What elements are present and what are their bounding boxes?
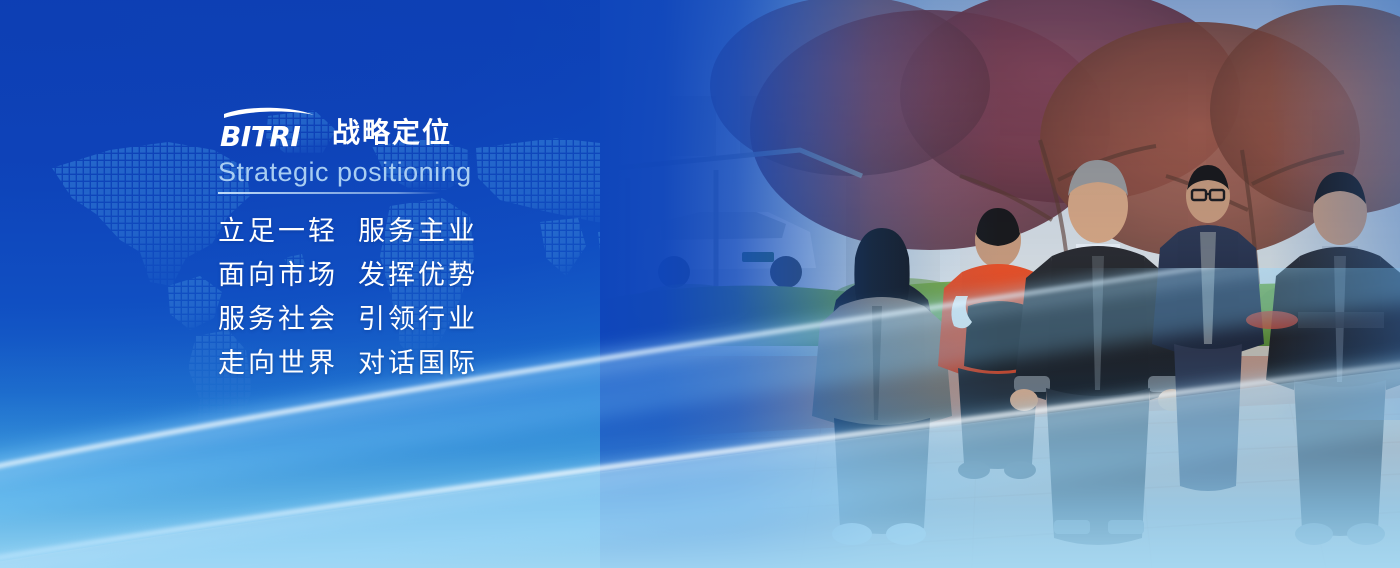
bitri-logo-icon: BITRI (218, 106, 320, 150)
slogan-left: 立足一轻 (218, 210, 358, 254)
slogan-line: 立足一轻 服务主业 (218, 210, 648, 254)
subtitle-underline (218, 192, 440, 194)
heading-chinese: 战略定位 (332, 118, 452, 150)
photo-left-fade (600, 0, 1400, 568)
banner-content: BITRI 战略定位 Strategic positioning 立足一轻 服务… (218, 104, 648, 386)
subtitle-english: Strategic positioning (218, 155, 648, 189)
slogan-right: 服务主业 (358, 210, 478, 254)
slogan-left: 走向世界 (218, 342, 358, 386)
slogan-line: 服务社会 引领行业 (218, 298, 648, 342)
slogan-right: 引领行业 (358, 298, 478, 342)
slogan-line: 面向市场 发挥优势 (218, 254, 648, 298)
walking-group-photo (600, 0, 1400, 568)
slogan-list: 立足一轻 服务主业 面向市场 发挥优势 服务社会 引领行业 走向世界 对话国际 (218, 210, 648, 386)
strategic-positioning-banner: BITRI 战略定位 Strategic positioning 立足一轻 服务… (0, 0, 1400, 568)
slogan-right: 对话国际 (358, 342, 478, 386)
slogan-left: 服务社会 (218, 298, 358, 342)
logo-row: BITRI 战略定位 (218, 104, 648, 150)
slogan-line: 走向世界 对话国际 (218, 342, 648, 386)
slogan-left: 面向市场 (218, 254, 358, 298)
svg-text:BITRI: BITRI (220, 120, 300, 150)
slogan-right: 发挥优势 (358, 254, 478, 298)
